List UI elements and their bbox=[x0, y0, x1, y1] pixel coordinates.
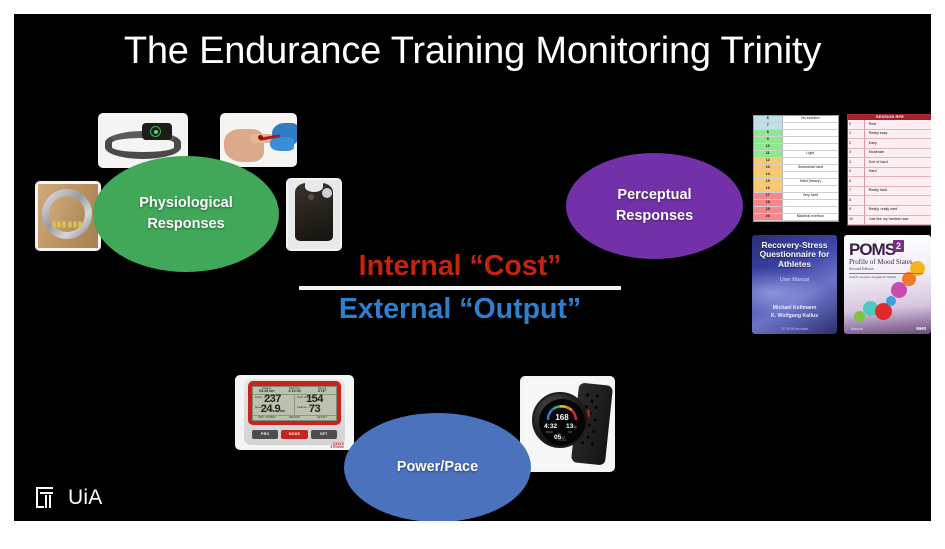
photo-blood-lactate-sample bbox=[220, 113, 297, 167]
ring-illustration bbox=[35, 181, 101, 251]
session-rpe-row: 8 bbox=[848, 196, 931, 206]
band-hole bbox=[595, 406, 598, 409]
session-rpe-row: 4Sort of hard bbox=[848, 158, 931, 168]
book-edition-badge: 2 bbox=[893, 240, 904, 252]
session-rpe-number: 10 bbox=[848, 216, 865, 226]
borg-rpe-number: 10 bbox=[754, 144, 783, 151]
borg-rpe-row: 16 bbox=[754, 186, 838, 193]
session-rpe-row: 3Moderate bbox=[848, 149, 931, 159]
band-hole bbox=[590, 400, 593, 403]
engraving-dot bbox=[52, 221, 56, 228]
borg-rpe-number: 6 bbox=[754, 116, 783, 123]
book-edition: Second Edition bbox=[849, 266, 874, 271]
session-rpe-row: 2Easy bbox=[848, 139, 931, 149]
band-hole bbox=[593, 418, 596, 421]
engraving-dot bbox=[62, 221, 66, 228]
photo-smart-ring bbox=[35, 181, 101, 251]
session-rpe-number: 9 bbox=[848, 206, 865, 216]
engraving-dot bbox=[68, 221, 72, 228]
borg-rpe-description bbox=[783, 158, 838, 165]
bubble-label-line1: Power/Pace bbox=[397, 457, 478, 478]
borg-rpe-number: 18 bbox=[754, 200, 783, 207]
borg-rpe-row: 19 bbox=[754, 207, 838, 214]
borg-rpe-number: 19 bbox=[754, 207, 783, 214]
session-rpe-scale-table: SESSION RPE 0Rest1Really easy2Easy3Moder… bbox=[847, 114, 931, 226]
engraving-dot bbox=[73, 221, 77, 228]
uia-mark-icon bbox=[36, 484, 61, 511]
borg-rpe-description bbox=[783, 200, 838, 207]
session-rpe-number: 5 bbox=[848, 168, 865, 178]
borg-rpe-number: 17 bbox=[754, 193, 783, 200]
sensor-module-icon bbox=[308, 194, 314, 200]
device-brand-logo: CYCLESTRONG bbox=[330, 443, 344, 449]
borg-rpe-description: Somewhat hard bbox=[783, 165, 838, 172]
button-pro[interactable]: PRO bbox=[252, 430, 278, 439]
session-rpe-description: Really hard bbox=[865, 187, 931, 197]
watch-distance-label: KM bbox=[568, 431, 572, 434]
watch-screen: 168 4:32 PACE 134c KM 0517 POLAR bbox=[539, 399, 585, 445]
session-rpe-row: 9Really, really hard bbox=[848, 206, 931, 216]
book-authors: Michael KellmannK. Wolfgang Kallus bbox=[752, 305, 837, 321]
borg-rpe-description: Maximal exertion bbox=[783, 214, 838, 221]
borg-rpe-number: 14 bbox=[754, 172, 783, 179]
borg-rpe-description bbox=[783, 137, 838, 144]
garment-illustration bbox=[286, 178, 342, 251]
session-rpe-row: 6 bbox=[848, 177, 931, 187]
page-title: The Endurance Training Monitoring Trinit… bbox=[14, 30, 931, 73]
band-hole bbox=[586, 436, 589, 439]
status-sect-stored: SECT. STORED bbox=[253, 416, 281, 420]
bubble-perceptual-responses[interactable]: Perceptual Responses bbox=[566, 153, 743, 259]
engraving-dot bbox=[57, 221, 61, 228]
band-hole bbox=[592, 430, 595, 433]
bubble-power-pace[interactable]: Power/Pace bbox=[344, 413, 531, 521]
watch-brand-label: POLAR bbox=[539, 439, 585, 442]
session-rpe-number: 2 bbox=[848, 139, 865, 149]
session-rpe-description: Really, really hard bbox=[865, 206, 931, 216]
watch-case: 168 4:32 PACE 134c KM 0517 POLAR bbox=[532, 392, 588, 448]
session-rpe-description: Really easy bbox=[865, 130, 931, 140]
status-set-alt: SET/ALT bbox=[308, 416, 336, 420]
vest-neckline bbox=[305, 182, 323, 192]
session-rpe-number: 7 bbox=[848, 187, 865, 197]
photo-sensor-vest bbox=[286, 178, 342, 251]
borg-rpe-number: 9 bbox=[754, 137, 783, 144]
borg-rpe-row: 18 bbox=[754, 200, 838, 207]
fraction-bar bbox=[299, 286, 621, 290]
bubble-label-line2: Responses bbox=[147, 214, 224, 235]
borg-rpe-row: 12 bbox=[754, 158, 838, 165]
engraving-dot bbox=[78, 221, 82, 228]
divider bbox=[849, 273, 923, 274]
borg-rpe-number: 20 bbox=[754, 214, 783, 221]
borg-rpe-description: No exertion bbox=[783, 116, 838, 123]
session-rpe-description: Hard bbox=[865, 168, 931, 178]
session-rpe-row: 7Really hard bbox=[848, 187, 931, 197]
borg-rpe-number: 12 bbox=[754, 158, 783, 165]
book-author-line: Michael Kellmann bbox=[752, 305, 837, 313]
bubble-physiological-responses[interactable]: Physiological Responses bbox=[93, 156, 279, 272]
borg-rpe-description: Light bbox=[783, 151, 838, 158]
borg-rpe-row: 9 bbox=[754, 137, 838, 144]
photo-bike-computer: Distance 03.45 km Ride Time 2:15:03 Reco… bbox=[235, 375, 354, 450]
band-hole bbox=[588, 424, 591, 427]
borg-rpe-description bbox=[783, 186, 838, 193]
book-author-line: K. Wolfgang Kallus bbox=[752, 313, 837, 321]
fraction-numerator: Internal “Cost” bbox=[295, 250, 625, 284]
cost-output-fraction: Internal “Cost” External “Output” bbox=[295, 250, 625, 326]
watch-distance-value: 134c bbox=[566, 423, 577, 430]
uia-logo: UiA bbox=[36, 484, 102, 511]
borg-rpe-row: 15Hard (heavy) bbox=[754, 179, 838, 186]
borg-rpe-number: 15 bbox=[754, 179, 783, 186]
status-record: RECORD bbox=[281, 416, 309, 420]
session-rpe-row: 1Really easy bbox=[848, 130, 931, 140]
borg-rpe-number: 13 bbox=[754, 165, 783, 172]
borg-rpe-description: Hard (heavy) bbox=[783, 179, 838, 186]
metric-cadence: Cadence · h 73 bbox=[294, 405, 336, 415]
cover-dot bbox=[886, 296, 896, 306]
session-rpe-description: Rest bbox=[865, 120, 931, 130]
watch-illustration: 168 4:32 PACE 134c KM 0517 POLAR bbox=[520, 376, 615, 472]
borg-rpe-row: 14 bbox=[754, 172, 838, 179]
borg-rpe-row: 6No exertion bbox=[754, 116, 838, 123]
book-authors: Juvia P. Heuchert, Douglas M. McNair bbox=[849, 275, 896, 279]
borg-rpe-description bbox=[783, 144, 838, 151]
borg-rpe-number: 7 bbox=[754, 123, 783, 130]
ring-engraving bbox=[52, 221, 82, 228]
session-rpe-row: 10Just like my hardest race bbox=[848, 216, 931, 226]
book-cover-restq-sport: Recovery-Stress Questionnaire for Athlet… bbox=[752, 235, 837, 334]
fraction-denominator: External “Output” bbox=[295, 293, 625, 327]
bubble-label-line1: Perceptual bbox=[617, 185, 691, 206]
borg-rpe-number: 8 bbox=[754, 130, 783, 137]
book-manual-label: Manual bbox=[851, 327, 863, 331]
book-footer-note: CD-ROM included bbox=[752, 327, 837, 331]
bubble-label-line2: Responses bbox=[616, 206, 693, 227]
bike-computer-illustration: Distance 03.45 km Ride Time 2:15:03 Reco… bbox=[235, 375, 354, 450]
session-rpe-number: 1 bbox=[848, 130, 865, 140]
slide-canvas: The Endurance Training Monitoring Trinit… bbox=[14, 14, 931, 521]
borg-rpe-row: 10 bbox=[754, 144, 838, 151]
borg-rpe-row: 17Very hard bbox=[754, 193, 838, 200]
session-rpe-description: Easy bbox=[865, 139, 931, 149]
session-rpe-description: Sort of hard bbox=[865, 158, 931, 168]
publisher-logo: MHS bbox=[916, 326, 926, 331]
book-subtitle: User Manual bbox=[752, 277, 837, 283]
brand-badge-icon bbox=[322, 188, 332, 198]
book-subtitle: Profile of Mood States bbox=[849, 258, 913, 266]
screen-bottom-strip: SECT. STORED RECORD SET/ALT bbox=[253, 415, 336, 420]
borg-rpe-row: 7 bbox=[754, 123, 838, 130]
session-rpe-number: 4 bbox=[848, 158, 865, 168]
session-rpe-number: 3 bbox=[848, 149, 865, 159]
session-rpe-number: 6 bbox=[848, 177, 865, 187]
band-hole bbox=[586, 393, 589, 396]
borg-rpe-row: 20Maximal exertion bbox=[754, 214, 838, 221]
device-buttons: PRO MODE SET bbox=[252, 429, 337, 439]
borg-rpe-description: Very hard bbox=[783, 193, 838, 200]
borg-rpe-description bbox=[783, 172, 838, 179]
borg-rpe-description bbox=[783, 130, 838, 137]
book-title: POMS bbox=[849, 241, 895, 258]
watch-pace-label: PACE bbox=[546, 431, 553, 434]
session-rpe-description: Just like my hardest race bbox=[865, 216, 931, 226]
uia-wordmark: UiA bbox=[68, 486, 102, 510]
book-cover-poms2: POMS 2 Profile of Mood States Second Edi… bbox=[844, 235, 931, 334]
button-set[interactable]: SET bbox=[311, 430, 337, 439]
watch-pace-value: 4:32 bbox=[544, 423, 557, 430]
session-rpe-description: Moderate bbox=[865, 149, 931, 159]
session-rpe-description bbox=[865, 177, 931, 187]
borg-rpe-row: 8 bbox=[754, 130, 838, 137]
session-rpe-description bbox=[865, 196, 931, 206]
button-mode[interactable]: MODE bbox=[281, 430, 307, 439]
metric-speed: Speed · h 24.9km bbox=[253, 405, 294, 415]
gloved-fingers-shape bbox=[270, 137, 294, 151]
borg-rpe-number: 11 bbox=[754, 151, 783, 158]
bubble-label-line1: Physiological bbox=[139, 193, 232, 214]
borg-rpe-scale-table: 6No exertion7891011Light1213Somewhat har… bbox=[753, 115, 839, 222]
screen-row-speed-cadence: Speed · h 24.9km Cadence · h 73 bbox=[253, 405, 336, 415]
borg-rpe-description bbox=[783, 123, 838, 130]
blood-drop-icon bbox=[258, 135, 263, 140]
session-rpe-number: 8 bbox=[848, 196, 865, 206]
session-rpe-row: 5Hard bbox=[848, 168, 931, 178]
borg-rpe-row: 13Somewhat hard bbox=[754, 165, 838, 172]
lactate-illustration bbox=[220, 113, 297, 167]
band-hole bbox=[596, 394, 599, 397]
device-screen: Distance 03.45 km Ride Time 2:15:03 Reco… bbox=[252, 386, 337, 421]
borg-rpe-row: 11Light bbox=[754, 151, 838, 158]
session-rpe-row: 0Rest bbox=[848, 120, 931, 130]
session-rpe-number: 0 bbox=[848, 120, 865, 130]
watch-heart-rate-value: 168 bbox=[539, 413, 585, 422]
borg-rpe-description bbox=[783, 207, 838, 214]
band-hole bbox=[591, 442, 594, 445]
borg-rpe-number: 16 bbox=[754, 186, 783, 193]
book-title: Recovery-Stress Questionnaire for Athlet… bbox=[755, 241, 834, 269]
optical-sensor-led-icon bbox=[154, 130, 158, 134]
photo-sports-watch: 168 4:32 PACE 134c KM 0517 POLAR bbox=[520, 376, 615, 472]
